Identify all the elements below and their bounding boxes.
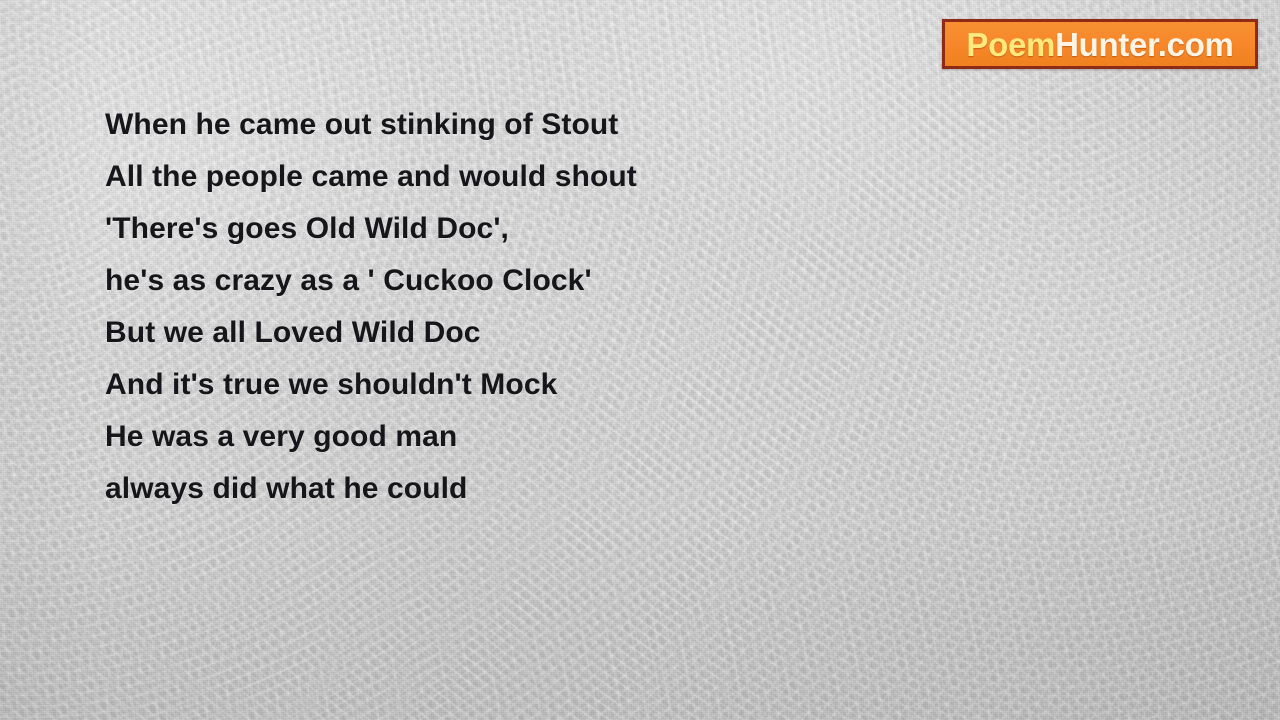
poem-line: 'There's goes Old Wild Doc', <box>105 203 865 255</box>
poem-image-canvas: PoemHunter.com When he came out stinking… <box>0 0 1280 720</box>
poem-line: he's as crazy as a ' Cuckoo Clock' <box>105 255 865 307</box>
poem-line: But we all Loved Wild Doc <box>105 307 865 359</box>
poem-line: When he came out stinking of Stout <box>105 99 865 151</box>
poem-line: All the people came and would shout <box>105 151 865 203</box>
poem-line: always did what he could <box>105 463 865 515</box>
logo-text-poem: Poem <box>966 26 1055 63</box>
poem-line: He was a very good man <box>105 411 865 463</box>
poem-body: When he came out stinking of Stout All t… <box>105 99 865 515</box>
logo-text: PoemHunter.com <box>966 28 1233 61</box>
poemhunter-watermark-logo[interactable]: PoemHunter.com <box>942 19 1258 69</box>
logo-text-hunter: Hunter.com <box>1055 26 1234 63</box>
poem-line: And it's true we shouldn't Mock <box>105 359 865 411</box>
